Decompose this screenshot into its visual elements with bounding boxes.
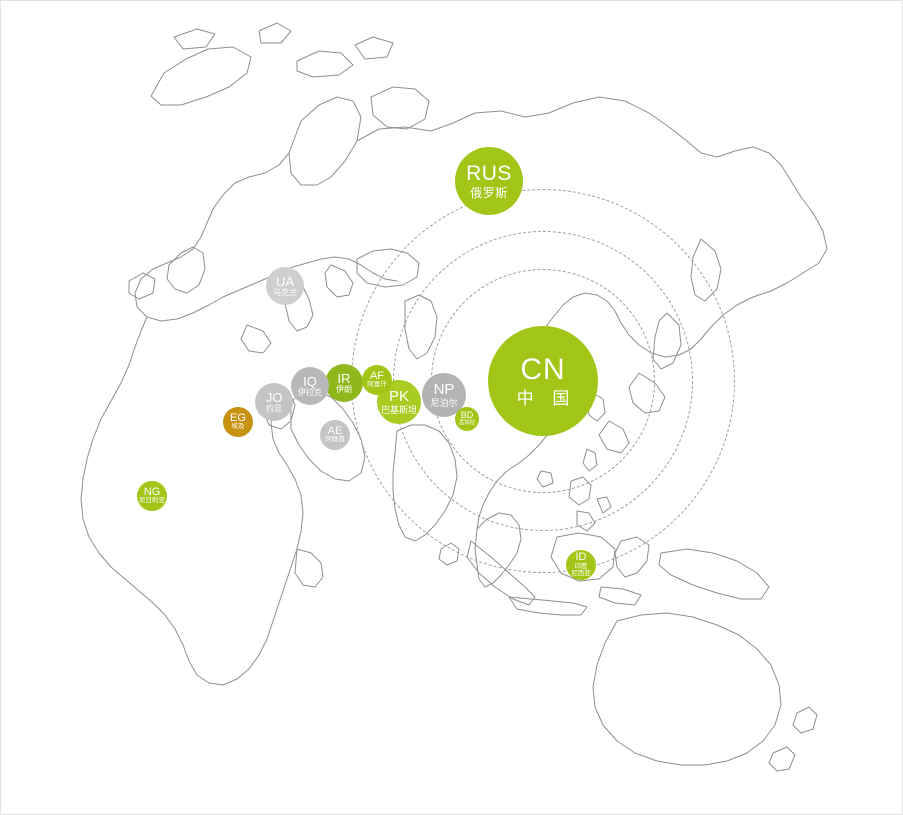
country-node-ir[interactable]: IR伊朗 <box>325 364 363 402</box>
country-code-label: UA <box>276 275 294 289</box>
country-name-label: 阿富汗 <box>367 382 387 389</box>
country-name-label: 中 国 <box>510 390 577 408</box>
country-node-bd[interactable]: BD孟加拉 <box>455 407 479 431</box>
country-node-iq[interactable]: IQ伊拉克 <box>291 367 329 405</box>
country-node-cn[interactable]: CN中 国 <box>488 326 598 436</box>
country-node-jo[interactable]: JO约旦 <box>255 383 293 421</box>
country-name-label: 俄罗斯 <box>470 187 508 200</box>
country-node-id[interactable]: ID印度尼西亚 <box>566 550 596 580</box>
country-node-rus[interactable]: RUS俄罗斯 <box>455 147 523 215</box>
world-map-container: CN中 国RUS俄罗斯PK巴基斯坦IR伊朗NP尼泊尔IQ伊拉克JO约旦UA乌克兰… <box>0 0 903 815</box>
country-name-label: 孟加拉 <box>459 421 476 427</box>
country-node-ua[interactable]: UA乌克兰 <box>266 267 304 305</box>
country-node-ae[interactable]: AE阿联酋 <box>320 420 350 450</box>
country-name-label: 尼泊尔 <box>430 399 457 408</box>
country-code-label: CN <box>520 354 565 386</box>
country-code-label: JO <box>266 391 283 405</box>
country-code-label: RUS <box>466 163 512 185</box>
country-name-label: 约旦 <box>266 405 282 413</box>
country-name-label: 乌克兰 <box>273 289 297 297</box>
country-name-label: 埃及 <box>232 424 245 431</box>
country-name-label: 巴基斯坦 <box>381 406 417 415</box>
country-code-label: NP <box>434 382 455 398</box>
country-name-label: 尼日利亚 <box>139 498 165 505</box>
country-name-label: 印度尼西亚 <box>571 564 591 578</box>
country-code-label: IQ <box>303 375 317 389</box>
country-code-label: PK <box>389 389 409 405</box>
country-node-ng[interactable]: NG尼日利亚 <box>137 481 167 511</box>
country-code-label: IR <box>338 372 351 386</box>
country-node-af[interactable]: AF阿富汗 <box>362 365 392 395</box>
country-name-label: 阿联酋 <box>325 437 345 444</box>
country-name-label: 伊朗 <box>336 386 352 394</box>
country-name-label: 伊拉克 <box>298 389 322 397</box>
country-node-eg[interactable]: EG埃及 <box>223 407 253 437</box>
